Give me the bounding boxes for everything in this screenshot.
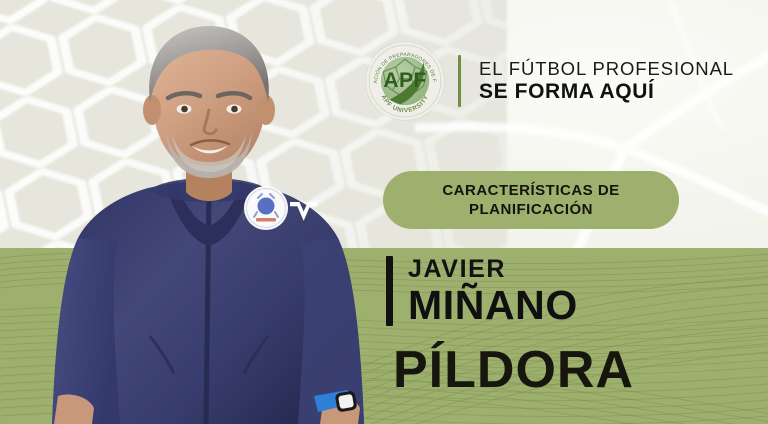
tagline-line-1: EL FÚTBOL PROFESIONAL <box>479 58 734 80</box>
speaker-last-name: MIÑANO <box>408 285 578 327</box>
speaker-first-name: JAVIER <box>408 256 578 283</box>
green-band <box>0 248 768 424</box>
topic-pill[interactable]: CARACTERÍSTICAS DE PLANIFICACIÓN <box>383 171 679 229</box>
brand-lockup: APF ASOCIACIÓN DE PREPARADORES DE FÚTBOL… <box>366 42 734 120</box>
format-label: PÍLDORA <box>393 344 634 396</box>
speaker-accent-rule <box>386 256 393 326</box>
lockup-divider <box>458 55 461 107</box>
promo-card: APF ASOCIACIÓN DE PREPARADORES DE FÚTBOL… <box>0 0 768 424</box>
speaker-names: JAVIER MIÑANO <box>408 256 578 326</box>
topic-pill-label: CARACTERÍSTICAS DE PLANIFICACIÓN <box>383 181 679 219</box>
apf-logo-icon[interactable]: APF ASOCIACIÓN DE PREPARADORES DE FÚTBOL… <box>366 42 444 120</box>
svg-text:APF: APF <box>383 69 426 92</box>
brand-tagline: EL FÚTBOL PROFESIONAL SE FORMA AQUÍ <box>479 58 734 105</box>
tagline-line-2: SE FORMA AQUÍ <box>479 80 734 105</box>
speaker-name-block: JAVIER MIÑANO <box>386 256 578 326</box>
